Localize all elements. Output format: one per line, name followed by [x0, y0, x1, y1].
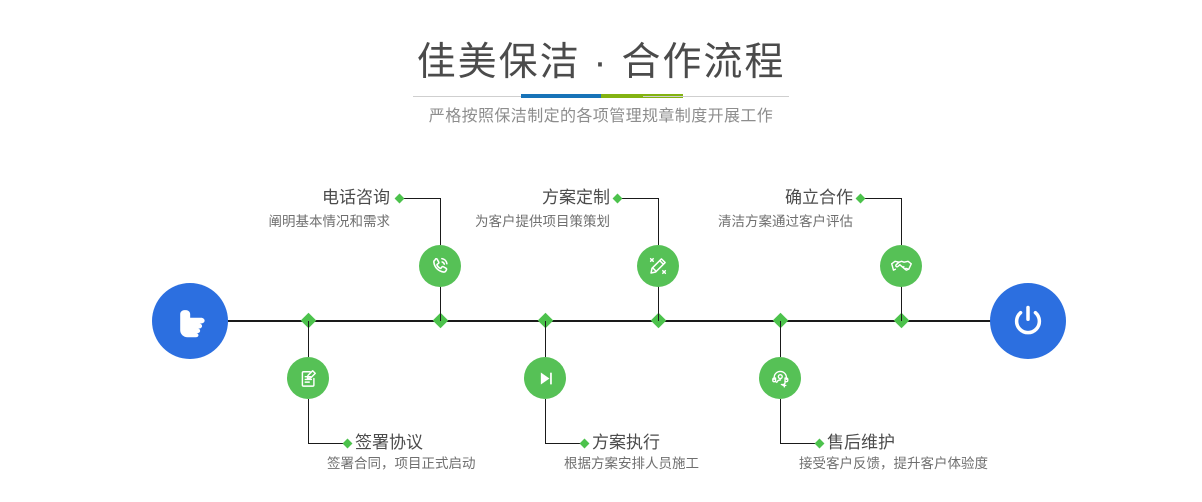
divider-gray-right — [643, 96, 789, 97]
connector-vline-step-1-lower — [440, 281, 441, 321]
customer-support-icon — [769, 367, 792, 390]
step-icon-6 — [759, 357, 801, 399]
timeline-end-marker — [990, 283, 1066, 359]
phone-call-icon — [428, 254, 452, 278]
power-icon — [1007, 300, 1049, 342]
connector-dot-step-5 — [856, 194, 866, 204]
pencil-design-icon — [646, 254, 670, 278]
connector-vline-step-4-upper — [545, 321, 546, 357]
step-subtitle-5: 清洁方案通过客户评估 — [603, 212, 853, 232]
step-subtitle-6: 接受客户反馈，提升客户体验度 — [799, 454, 1179, 474]
connector-hline-step-5 — [862, 198, 902, 199]
connector-vline-step-2-upper — [308, 321, 309, 357]
step-icon-2 — [287, 357, 329, 399]
pointing-hand-icon — [169, 300, 211, 342]
connector-vline-step-2 — [308, 399, 309, 444]
divider-blue-segment — [521, 94, 601, 98]
connector-vline-step-5-lower — [901, 281, 902, 321]
connector-vline-step-3-lower — [658, 281, 659, 321]
step-icon-5 — [880, 245, 922, 287]
handshake-icon — [889, 254, 914, 279]
connector-vline-step-6-upper — [780, 321, 781, 357]
cooperation-process-infographic: 佳美保洁 · 合作流程 严格按照保洁制定的各项管理规章制度开展工作 — [0, 0, 1202, 502]
step-icon-4 — [524, 357, 566, 399]
step-title-5: 确立合作 — [603, 187, 853, 209]
connector-vline-step-5 — [901, 198, 902, 245]
step-subtitle-3: 为客户提供项目策策划 — [360, 212, 610, 232]
step-title-3: 方案定制 — [360, 187, 610, 209]
connector-vline-step-6 — [780, 399, 781, 444]
step-icon-1 — [419, 245, 461, 287]
step-title-6: 售后维护 — [827, 432, 1147, 454]
page-title: 佳美保洁 · 合作流程 — [0, 38, 1202, 88]
page-subtitle: 严格按照保洁制定的各项管理规章制度开展工作 — [0, 105, 1202, 129]
step-icon-3 — [637, 245, 679, 287]
document-edit-icon — [297, 367, 320, 390]
timeline-axis — [228, 320, 991, 322]
step-title-1: 电话咨询 — [140, 187, 390, 209]
play-execute-icon — [534, 367, 557, 390]
timeline-start-marker — [152, 283, 228, 359]
title-divider — [413, 94, 789, 98]
connector-vline-step-4 — [545, 399, 546, 444]
connector-dot-step-2 — [343, 439, 353, 449]
step-subtitle-1: 阐明基本情况和需求 — [140, 212, 390, 232]
